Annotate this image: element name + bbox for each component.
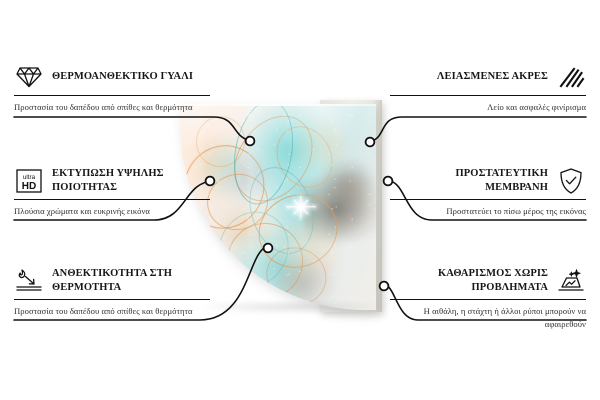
feature-protective-membrane: ΠΡΟΣΤΑΤΕΥΤΙΚΗ ΜΕΜΒΡΑΝΗ Προστατεύει το πί…: [390, 166, 586, 218]
feature-rule: [14, 95, 210, 96]
product-image: [180, 96, 410, 326]
infographic-stage: ΘΕΡΜΟΑΝΘΕΚΤΙΚΟ ΓΥΑΛΙ Προστασία του δαπέδ…: [0, 0, 600, 400]
feature-subtitle: Πλούσια χρώματα και ευκρινής εικόνα: [14, 205, 210, 217]
feature-polished-edges: ΛΕΙΑΣΜΕΝΕΣ ΑΚΡΕΣ Λείο και ασφαλές φινίρι…: [390, 62, 586, 114]
diamond-icon: [14, 62, 44, 92]
feature-rule: [390, 95, 586, 96]
ultra-hd-icon: ultra HD: [14, 166, 44, 196]
feature-rule: [390, 299, 586, 300]
feature-subtitle: Προστασία του δαπέδου από σπίθες και θερ…: [14, 101, 210, 113]
feature-rule: [14, 199, 210, 200]
polished-edges-icon: [556, 62, 586, 92]
ultra-hd-hd-label: HD: [22, 181, 36, 192]
feature-subtitle: Προστασία του δαπέδου από σπίθες και θερ…: [14, 305, 210, 317]
feature-rule: [14, 299, 210, 300]
feature-subtitle: Η αιθάλη, η στάχτη ή άλλοι ρύποι μπορούν…: [390, 305, 586, 329]
feature-title: ΘΕΡΜΟΑΝΘΕΚΤΙΚΟ ΓΥΑΛΙ: [52, 70, 193, 84]
feature-subtitle: Λείο και ασφαλές φινίρισμα: [390, 101, 586, 113]
easy-clean-icon: [556, 266, 586, 296]
feature-title: ΛΕΙΑΣΜΕΝΕΣ ΑΚΡΕΣ: [437, 70, 548, 84]
feature-subtitle: Προστατεύει το πίσω μέρος της εικόνας: [390, 205, 586, 217]
feature-title: ΕΚΤΥΠΩΣΗ ΥΨΗΛΗΣ ΠΟΙΟΤΗΤΑΣ: [52, 167, 210, 195]
feature-easy-cleaning: ΚΑΘΑΡΙΣΜΟΣ ΧΩΡΙΣ ΠΡΟΒΛΗΜΑΤΑ Η αιθάλη, η …: [390, 266, 586, 330]
flame-resistance-icon: [14, 266, 44, 296]
ultra-hd-ultra-label: ultra: [23, 174, 36, 181]
feature-title: ΠΡΟΣΤΑΤΕΥΤΙΚΗ ΜΕΜΒΡΑΝΗ: [390, 167, 548, 195]
feature-title: ΑΝΘΕΚΤΙΚΟΤΗΤΑ ΣΤΗ ΘΕΡΜΟΤΗΤΑ: [52, 267, 210, 295]
feature-high-quality-print: ultra HD ΕΚΤΥΠΩΣΗ ΥΨΗΛΗΣ ΠΟΙΟΤΗΤΑΣ Πλούσ…: [14, 166, 210, 218]
shield-check-icon: [556, 166, 586, 196]
feature-title: ΚΑΘΑΡΙΣΜΟΣ ΧΩΡΙΣ ΠΡΟΒΛΗΜΑΤΑ: [390, 267, 548, 295]
feature-rule: [390, 199, 586, 200]
feature-heat-resistant-glass: ΘΕΡΜΟΑΝΘΕΚΤΙΚΟ ΓΥΑΛΙ Προστασία του δαπέδ…: [14, 62, 210, 114]
product-shadow: [196, 302, 386, 314]
feature-heat-durability: ΑΝΘΕΚΤΙΚΟΤΗΤΑ ΣΤΗ ΘΕΡΜΟΤΗΤΑ Προστασία το…: [14, 266, 210, 318]
